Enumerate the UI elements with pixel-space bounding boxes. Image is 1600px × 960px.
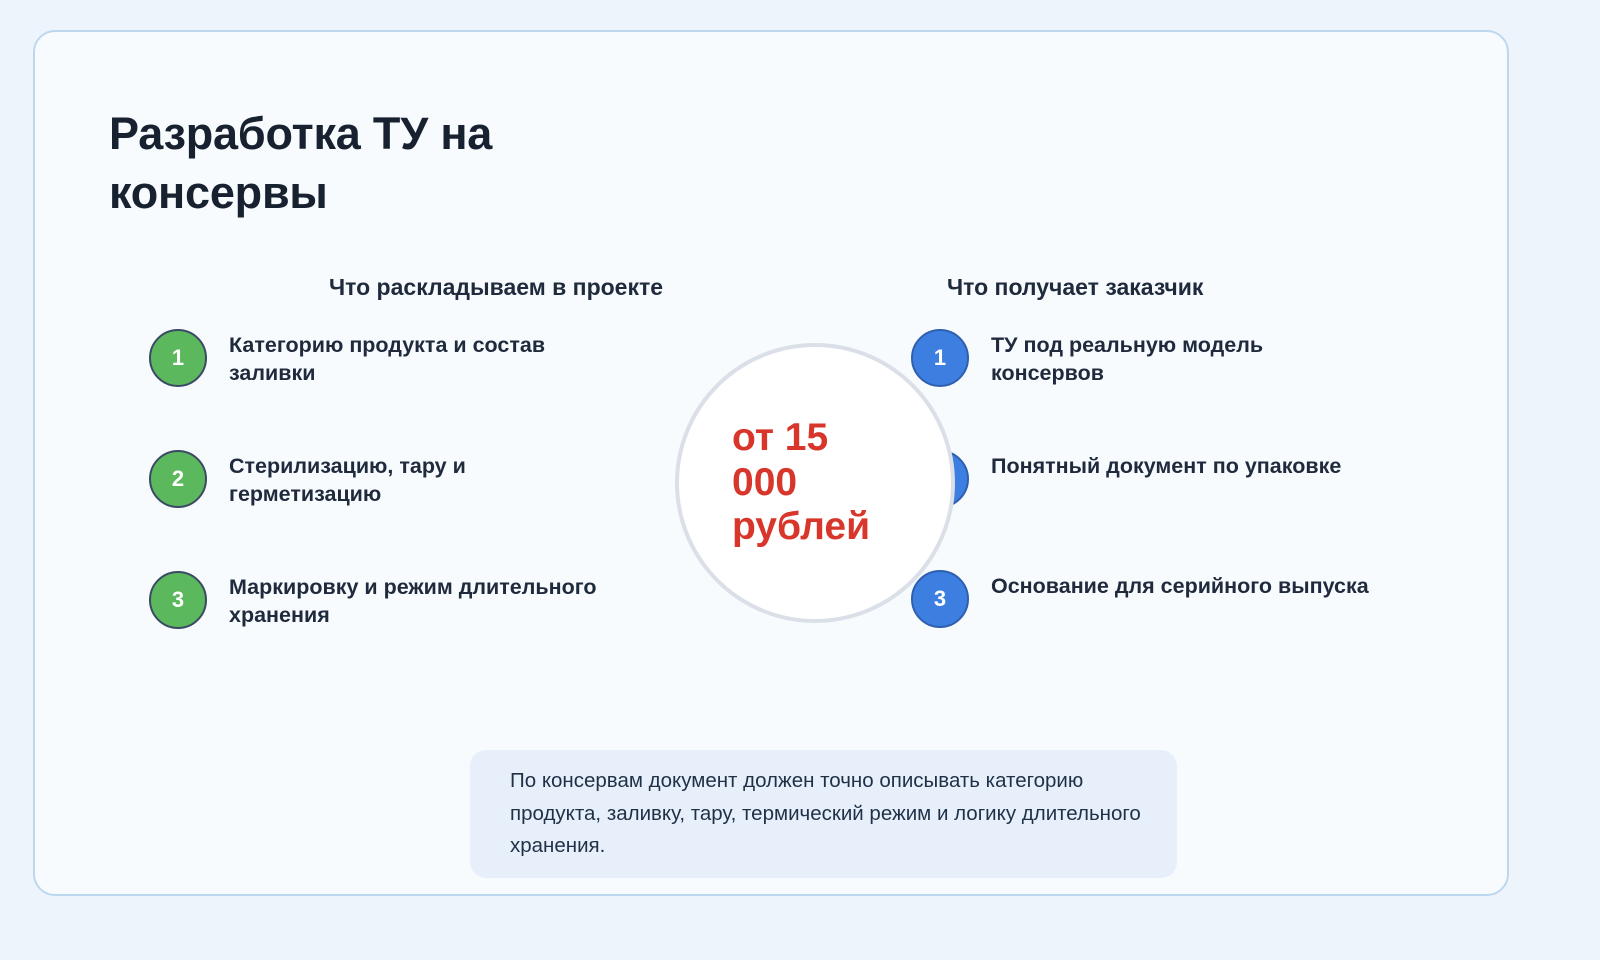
list-item: 3 Маркировку и режим длительного хранени… <box>149 569 669 630</box>
left-column-heading: Что раскладываем в проекте <box>149 274 669 301</box>
list-item-label: ТУ под реальную модель консервов <box>991 327 1371 388</box>
number-badge: 1 <box>149 329 207 387</box>
list-item-label: Маркировку и режим длительного хранения <box>229 569 609 630</box>
note-box: По консервам документ должен точно описы… <box>470 750 1177 878</box>
number-badge: 3 <box>149 571 207 629</box>
price-circle: от 15 000 рублей <box>675 343 955 623</box>
infographic-page: Разработка ТУ на консервы Что раскладыва… <box>0 0 1600 960</box>
content-card: Разработка ТУ на консервы Что раскладыва… <box>33 30 1509 896</box>
price-label: от 15 000 рублей <box>732 416 898 549</box>
page-title: Разработка ТУ на консервы <box>109 104 669 223</box>
list-item-label: Понятный документ по упаковке <box>991 448 1341 481</box>
left-column: Что раскладываем в проекте 1 Категорию п… <box>149 274 669 630</box>
list-item: 2 Понятный документ по упаковке <box>911 448 1391 508</box>
note-text: По консервам документ должен точно описы… <box>470 765 1177 863</box>
number-badge: 3 <box>911 570 969 628</box>
number-badge: 2 <box>149 450 207 508</box>
list-item-label: Основание для серийного выпуска <box>991 568 1369 601</box>
right-column: Что получает заказчик 1 ТУ под реальную … <box>911 274 1391 628</box>
number-badge: 1 <box>911 329 969 387</box>
right-column-heading: Что получает заказчик <box>911 274 1391 301</box>
list-item: 1 Категорию продукта и состав заливки <box>149 327 669 388</box>
list-item-label: Стерилизацию, тару и герметизацию <box>229 448 609 509</box>
list-item: 2 Стерилизацию, тару и герметизацию <box>149 448 669 509</box>
list-item: 3 Основание для серийного выпуска <box>911 568 1391 628</box>
list-item-label: Категорию продукта и состав заливки <box>229 327 609 388</box>
list-item: 1 ТУ под реальную модель консервов <box>911 327 1391 388</box>
